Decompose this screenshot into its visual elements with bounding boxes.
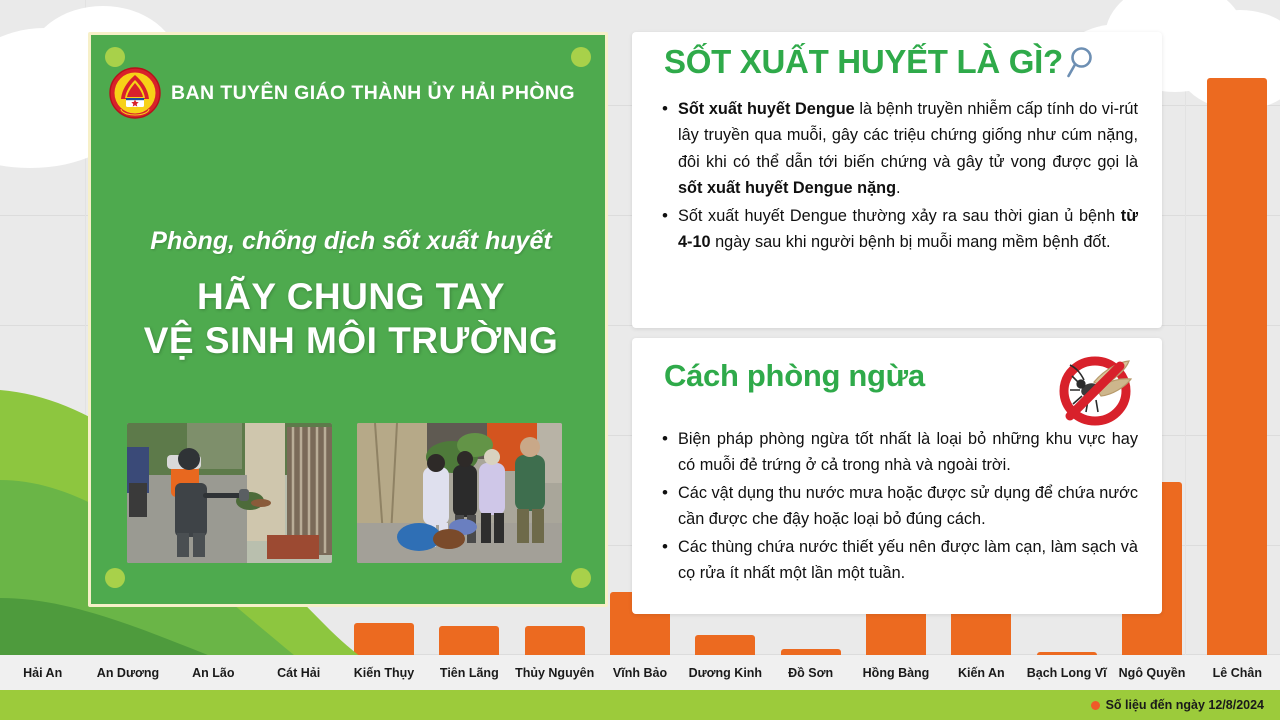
poster-kicker: Phòng, chống dịch sốt xuất huyết <box>91 227 611 256</box>
green-poster-panel: BAN TUYÊN GIÁO THÀNH ỦY HẢI PHÒNG Phòng,… <box>88 32 608 607</box>
axis-label: Kiến An <box>939 655 1024 690</box>
mosquito-fogging-photo <box>127 423 332 563</box>
poster-headline-line2: VỆ SINH MÔI TRƯỜNG <box>91 319 611 363</box>
axis-label: Bạch Long Vĩ <box>1024 655 1109 690</box>
card-prevention: Cách phòng ngừa Biện pháp phòng ngừa tốt… <box>632 338 1162 614</box>
corner-dot-top-right <box>571 47 591 67</box>
axis-label: Lê Chân <box>1195 655 1280 690</box>
axis-label: Hồng Bàng <box>853 655 938 690</box>
bullet-item: Các vật dụng thu nước mưa hoặc được sử d… <box>660 480 1138 533</box>
bullet-item: Các thùng chứa nước thiết yếu nên được l… <box>660 534 1138 587</box>
footer-bar <box>0 690 1280 720</box>
magnifier-icon <box>1067 45 1101 79</box>
community-cleanup-photo <box>357 423 562 563</box>
organization-name: BAN TUYÊN GIÁO THÀNH ỦY HẢI PHÒNG <box>171 82 575 105</box>
card1-title-row: SỐT XUẤT HUYẾT LÀ GÌ? <box>664 44 1101 80</box>
card2-title-text: Cách phòng ngừa <box>664 358 925 394</box>
poster-header: BAN TUYÊN GIÁO THÀNH ỦY HẢI PHÒNG <box>91 65 611 121</box>
poster-headline-line1: HÃY CHUNG TAY <box>91 275 611 319</box>
footer-note-text: Số liệu đến ngày 12/8/2024 <box>1106 698 1264 712</box>
axis-label: Cát Hải <box>256 655 341 690</box>
axis-label: Kiến Thụy <box>341 655 426 690</box>
corner-dot-bottom-left <box>105 568 125 588</box>
axis-label: An Lão <box>171 655 256 690</box>
axis-label: An Dương <box>85 655 170 690</box>
footer-note: Số liệu đến ngày 12/8/2024 <box>1091 690 1264 720</box>
vietnam-party-emblem-icon <box>109 67 161 119</box>
bullet-item: Biện pháp phòng ngừa tốt nhất là loại bỏ… <box>660 426 1138 479</box>
poster-headline: HÃY CHUNG TAY VỆ SINH MÔI TRƯỜNG <box>91 275 611 362</box>
axis-label: Thủy Nguyên <box>512 655 597 690</box>
axis-label: Vĩnh Bảo <box>597 655 682 690</box>
poster-photo-row <box>127 423 577 573</box>
axis-label: Dương Kinh <box>683 655 768 690</box>
axis-label: Tiên Lãng <box>427 655 512 690</box>
chart-bar <box>1207 78 1267 655</box>
no-mosquito-icon <box>1050 346 1136 426</box>
axis-label: Hải An <box>0 655 85 690</box>
card1-bullet-list: Sốt xuất huyết Dengue là bệnh truyền nhi… <box>660 96 1138 256</box>
card-what-is-dengue: SỐT XUẤT HUYẾT LÀ GÌ? Sốt xuất huyết Den… <box>632 32 1162 328</box>
axis-label: Ngô Quyền <box>1109 655 1194 690</box>
axis-label: Đồ Sơn <box>768 655 853 690</box>
orange-dot-icon <box>1091 701 1100 710</box>
corner-dot-top-left <box>105 47 125 67</box>
bullet-item: Sốt xuất huyết Dengue thường xảy ra sau … <box>660 203 1138 256</box>
card2-bullet-list: Biện pháp phòng ngừa tốt nhất là loại bỏ… <box>660 426 1138 587</box>
card1-title-text: SỐT XUẤT HUYẾT LÀ GÌ? <box>664 44 1063 80</box>
bullet-item: Sốt xuất huyết Dengue là bệnh truyền nhi… <box>660 96 1138 202</box>
infographic-canvas: SỐT XUẤT HUYẾT LÀ GÌ? Sốt xuất huyết Den… <box>0 0 1280 720</box>
chart-x-axis: Hải AnAn DươngAn LãoCát HảiKiến ThụyTiên… <box>0 655 1280 690</box>
